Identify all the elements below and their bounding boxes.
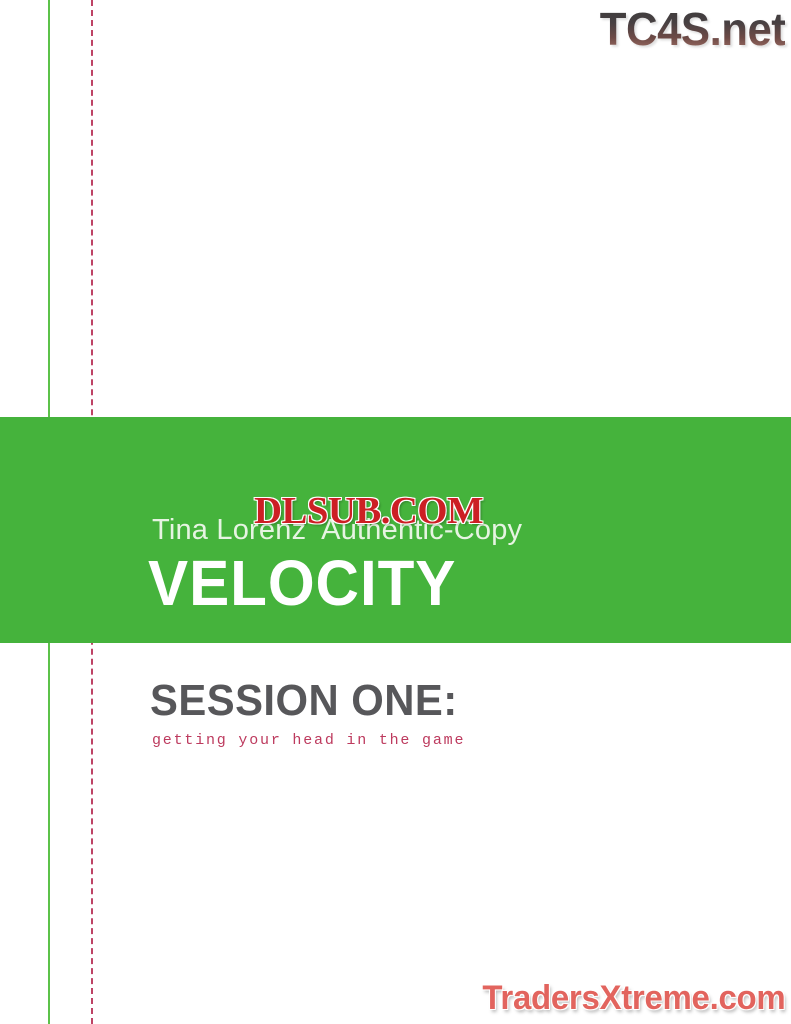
session-subtitle: getting your head in the game bbox=[152, 732, 465, 749]
page-title: VELOCITY bbox=[148, 551, 456, 615]
session-heading: SESSION ONE: bbox=[150, 676, 458, 726]
tradersxtreme-watermark: TradersXtreme.com bbox=[482, 979, 785, 1018]
document-page: TC4S.net TC4S.net Tina Lorenz Authentic-… bbox=[0, 0, 791, 1024]
tc4s-watermark: TC4S.net bbox=[599, 2, 785, 56]
dlsub-watermark: DLSUB.COM bbox=[254, 489, 483, 533]
